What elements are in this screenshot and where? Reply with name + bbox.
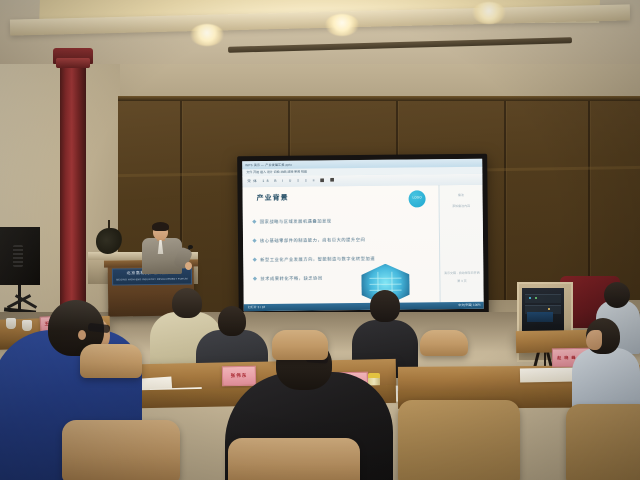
ceiling-downlight-icon [190, 24, 224, 46]
rack-monitor [527, 312, 553, 322]
chair-back-right[interactable] [420, 330, 468, 356]
panel-seam [504, 96, 506, 314]
statusbar-right-text: 中文(中国) 100% [458, 302, 481, 309]
conference-room-scene: WPS 演示 — 产业发展汇报.pptx 文件 开始 插入 设计 切换 动画 放… [0, 0, 640, 480]
name-placard: 张伟东 [222, 366, 256, 387]
handout-paper [520, 368, 576, 383]
wall-panel-trim [118, 96, 640, 101]
notes-page-number: 第 3 页 [440, 279, 483, 284]
notes-placeholder: 添加备注内容 [440, 204, 483, 209]
chair-foreground-center[interactable] [228, 438, 360, 480]
presenter-hair [152, 222, 169, 231]
slide-title: 产业背景 [257, 193, 289, 203]
chair-back-center[interactable] [272, 330, 328, 360]
notes-heading: 备注 [440, 193, 483, 198]
slide-bullet-text: 国家战略与区域发展机遇叠加显现 [260, 218, 332, 225]
slide-bullet-text: 新型工业化产业发展方向，智能制造与数字化转型加速 [260, 256, 375, 263]
paper-cup [6, 318, 16, 329]
rack-led-icon [548, 308, 550, 310]
slide-bullet-text: 核心基础零部件的制造能力，尚有巨大的提升空间 [260, 237, 365, 244]
chair-foreground-far-right[interactable] [566, 404, 640, 480]
slide-bullet: 新型工业化产业发展方向，智能制造与数字化转型加速 [253, 250, 375, 269]
bullet-marker-icon [252, 220, 256, 224]
notes-autosave-status: 演示文稿 · 自动保存已开启 [440, 271, 483, 276]
paper-cup [22, 320, 32, 331]
rack-led-icon [535, 297, 537, 299]
slide-bullet: 核心基础零部件的制造能力，尚有巨大的提升空间 [253, 231, 366, 250]
chair-back-left[interactable] [80, 344, 142, 378]
wall-display[interactable]: WPS 演示 — 产业发展汇报.pptx 文件 开始 插入 设计 切换 动画 放… [237, 154, 489, 322]
statusbar-left-text: 幻灯片 3 / 18 [244, 302, 484, 312]
microphone-icon [188, 245, 193, 249]
water-bottle-cap [368, 373, 380, 378]
display-screen[interactable]: WPS 演示 — 产业发展汇报.pptx 文件 开始 插入 设计 切换 动画 放… [242, 159, 484, 312]
ceiling-downlight-icon [472, 2, 506, 24]
brand-badge-label: LOGO [409, 195, 426, 199]
attendee-head [218, 306, 246, 336]
speaker-grille-icon [13, 245, 23, 267]
attendee-face [586, 330, 602, 350]
decorative-column [60, 48, 86, 316]
bullet-marker-icon [252, 239, 256, 243]
notes-sidebar[interactable]: 备注 添加备注内容 演示文稿 · 自动保存已开启 第 3 页 [439, 185, 483, 302]
podium-banner-en-text: BEIJING HIGH-END INDUSTRY DEVELOPMENT FO… [113, 276, 191, 282]
bullet-marker-icon [253, 277, 257, 281]
slide-bullet: 国家战略与区域发展机遇叠加显现 [253, 212, 332, 231]
chair-foreground-left[interactable] [62, 420, 180, 480]
chair-foreground-right[interactable] [398, 400, 520, 480]
slide-bullet: 技术成果转化不畅，缺乏协同 [253, 269, 322, 288]
slide-bullet-text: 技术成果转化不畅，缺乏协同 [260, 275, 322, 282]
rack-led-icon [529, 297, 531, 299]
column-capital [56, 58, 90, 68]
attendee-head [604, 282, 630, 308]
attendee-head [172, 288, 202, 318]
app-statusbar: 幻灯片 3 / 18 中文(中国) 100% [244, 302, 484, 312]
name-placard-text: 张伟东 [223, 367, 255, 386]
presenter-hand [185, 262, 192, 270]
attendee-head [370, 290, 400, 322]
bullet-marker-icon [253, 258, 257, 262]
ceiling-downlight-icon [325, 14, 359, 36]
attendee-ear [78, 330, 86, 340]
